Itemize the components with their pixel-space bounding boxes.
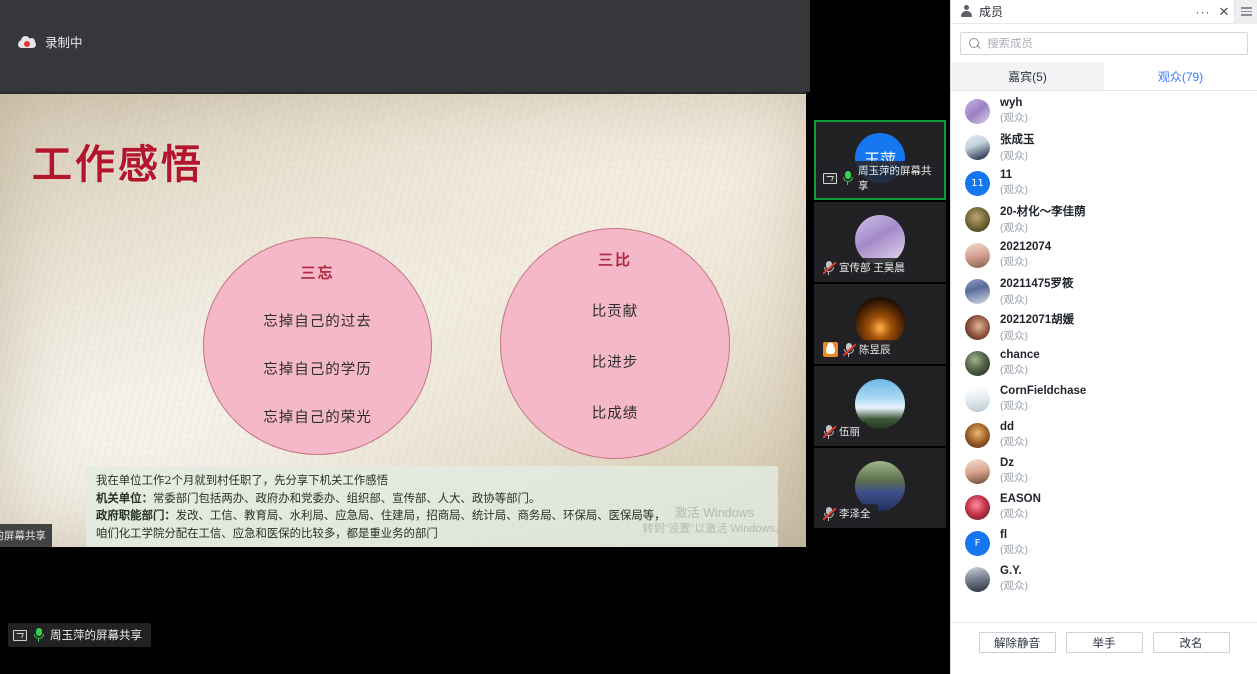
participant-role: (观众)	[1000, 578, 1028, 593]
mic-muted-icon	[823, 425, 834, 439]
participant-role: (观众)	[1000, 220, 1086, 235]
avatar-initials: 11	[965, 171, 990, 196]
slide-title: 工作感悟	[32, 132, 204, 190]
button-label: 举手	[1093, 635, 1116, 651]
rename-button[interactable]: 改名	[1153, 632, 1230, 653]
raise-hand-button[interactable]: 举手	[1066, 632, 1143, 653]
stage-share-tag: 周玉萍的屏幕共享	[8, 623, 151, 647]
participant-info: 11 (观众)	[1000, 169, 1028, 197]
participant-info: 20212071胡媛 (观众)	[1000, 311, 1074, 343]
slide-corner-share-tag: 玉萍的屏幕共享	[0, 524, 52, 547]
search-box[interactable]	[960, 32, 1248, 55]
participant-info: EASON (观众)	[1000, 493, 1041, 521]
participant-role: (观众)	[1000, 506, 1041, 521]
participant-role: (观众)	[1000, 148, 1035, 163]
participant-info: G.Y. (观众)	[1000, 565, 1028, 593]
participant-name: 20212074	[1000, 241, 1051, 253]
screen-share-icon	[13, 630, 27, 641]
panel-footer-actions: 解除静音举手改名	[951, 622, 1257, 674]
participant-name: CornFieldchase	[1000, 385, 1086, 397]
thumbnail-name-tag: 周玉萍的屏幕共享	[819, 161, 941, 195]
participant-name: 张成玉	[1000, 131, 1035, 147]
avatar: 11	[965, 171, 990, 196]
video-thumbnail[interactable]: 宣传部 王昊晨	[814, 202, 946, 282]
thumbnail-name: 伍丽	[839, 424, 860, 439]
participant-name: 20-材化～李佳荫	[1000, 203, 1086, 219]
participant-row[interactable]: 张成玉 (观众)	[951, 129, 1257, 165]
avatar	[965, 351, 990, 376]
venn-left-line-1: 忘掉自己的过去	[204, 310, 431, 331]
participant-role: (观众)	[1000, 542, 1028, 557]
avatar	[965, 495, 990, 520]
thumbnail-name-tag: 李泽全	[819, 504, 878, 523]
recording-indicator: 录制中	[18, 32, 83, 51]
avatar	[965, 279, 990, 304]
avatar	[965, 567, 990, 592]
avatar	[965, 459, 990, 484]
search-row	[951, 24, 1257, 62]
panel-title: 成员	[979, 3, 1003, 20]
screen-share-icon	[823, 173, 837, 184]
avatar: F	[965, 531, 990, 556]
video-thumbnail[interactable]: 李泽全	[814, 448, 946, 528]
participant-name: 20211475罗筱	[1000, 275, 1074, 291]
venn-right-line-2: 比进步	[501, 351, 729, 372]
video-thumbnail[interactable]: 陈昱辰	[814, 284, 946, 364]
presentation-slide: 工作感悟 三忘 忘掉自己的过去 忘掉自己的学历 忘掉自己的荣光 三比 比贡献 比…	[0, 92, 806, 547]
search-icon	[969, 38, 980, 49]
mic-on-icon	[33, 628, 44, 642]
participant-row[interactable]: F fl (观众)	[951, 525, 1257, 561]
participant-row[interactable]: chance (观众)	[951, 345, 1257, 381]
venn-left-line-2: 忘掉自己的学历	[204, 358, 431, 379]
participant-row[interactable]: Dz (观众)	[951, 453, 1257, 489]
participant-row[interactable]: CornFieldchase (观众)	[951, 381, 1257, 417]
participant-row[interactable]: 20-材化～李佳荫 (观众)	[951, 201, 1257, 237]
participant-info: Dz (观众)	[1000, 457, 1028, 485]
avatar	[965, 243, 990, 268]
participant-role: (观众)	[1000, 110, 1028, 125]
participant-role: (观众)	[1000, 254, 1051, 269]
slide-text-line-1: 我在单位工作2个月就到村任职了，先分享下机关工作感悟	[96, 472, 768, 490]
hamburger-menu-icon[interactable]	[1234, 0, 1257, 24]
participant-name: 11	[1000, 169, 1028, 181]
participant-row[interactable]: 20212071胡媛 (观众)	[951, 309, 1257, 345]
participant-info: chance (观众)	[1000, 349, 1040, 377]
host-badge-icon	[823, 342, 838, 357]
thumbnail-name: 周玉萍的屏幕共享	[858, 163, 934, 193]
participant-role: (观众)	[1000, 182, 1028, 197]
slide-text-line-4: 咱们化工学院分配在工信、应急和医保的比较多，都是重业务的部门	[96, 525, 768, 543]
user-head-icon	[960, 5, 973, 18]
close-icon[interactable]: ✕	[1214, 0, 1234, 24]
button-label: 解除静音	[994, 635, 1040, 651]
stage-share-tag-label: 周玉萍的屏幕共享	[50, 627, 142, 643]
avatar	[965, 99, 990, 124]
participant-info: 20212074 (观众)	[1000, 241, 1051, 269]
venn-left-line-3: 忘掉自己的荣光	[204, 406, 431, 427]
tab-audience[interactable]: 观众(79)	[1104, 62, 1257, 90]
more-options-button[interactable]: ···	[1192, 0, 1214, 24]
participant-row[interactable]: dd (观众)	[951, 417, 1257, 453]
avatar	[965, 423, 990, 448]
thumbnail-name: 宣传部 王昊晨	[839, 260, 905, 275]
venn-left-heading: 三忘	[204, 262, 431, 283]
participant-name: G.Y.	[1000, 565, 1028, 577]
avatar-initials: F	[965, 531, 990, 556]
participant-name: dd	[1000, 421, 1028, 433]
panel-titlebar: 成员 ··· ✕	[951, 0, 1257, 24]
venn-circle-left: 三忘 忘掉自己的过去 忘掉自己的学历 忘掉自己的荣光	[203, 237, 432, 455]
participant-info: 20-材化～李佳荫 (观众)	[1000, 203, 1086, 235]
slide-body-textbox: 我在单位工作2个月就到村任职了，先分享下机关工作感悟 机关单位：常委部门包括两办…	[86, 466, 778, 547]
participant-role: (观众)	[1000, 362, 1040, 377]
slide-text-line-3: 政府职能部门：发改、工信、教育局、水利局、应急局、住建局，招商局、统计局、商务局…	[96, 507, 768, 525]
panel-title-group: 成员	[951, 3, 1192, 20]
shared-screen-stage[interactable]: 录制中 工作感悟 三忘 忘掉自己的过去 忘掉自己的学历 忘掉自己的荣光 三比 比…	[0, 0, 950, 674]
participant-row[interactable]: 20211475罗筱 (观众)	[951, 273, 1257, 309]
thumbnail-name-tag: 宣传部 王昊晨	[819, 258, 912, 277]
mic-muted-icon	[823, 261, 834, 275]
participant-role: (观众)	[1000, 470, 1028, 485]
participant-name: wyh	[1000, 97, 1028, 109]
participants-panel: 成员 ··· ✕ 嘉宾(5)观众(79) wyh (观众) 张成玉 (观众) 1…	[950, 0, 1257, 674]
slide-text-line-2: 机关单位：常委部门包括两办、政府办和党委办、组织部、宣传部、人大、政协等部门。	[96, 490, 768, 508]
venn-right-line-1: 比贡献	[501, 300, 729, 321]
participant-role: (观众)	[1000, 292, 1074, 307]
participant-row[interactable]: G.Y. (观众)	[951, 561, 1257, 597]
participant-row[interactable]: 20212074 (观众)	[951, 237, 1257, 273]
venn-right-heading: 三比	[501, 249, 729, 270]
panel-tabs: 嘉宾(5)观众(79)	[951, 62, 1257, 91]
recording-label: 录制中	[45, 32, 83, 51]
thumbnail-name-tag: 伍丽	[819, 422, 867, 441]
thumbnail-name: 陈昱辰	[859, 342, 891, 357]
button-label: 改名	[1180, 635, 1203, 651]
stage-top-bar	[0, 0, 810, 92]
video-thumbnail[interactable]: 玉萍 周玉萍的屏幕共享	[814, 120, 946, 200]
avatar	[965, 387, 990, 412]
participant-row[interactable]: 11 11 (观众)	[951, 165, 1257, 201]
mic-muted-icon	[823, 507, 834, 521]
mic-on-icon	[842, 171, 853, 185]
participant-info: 张成玉 (观众)	[1000, 131, 1035, 163]
thumbnail-name-tag: 陈昱辰	[819, 340, 898, 359]
avatar	[965, 135, 990, 160]
participant-info: fl (观众)	[1000, 529, 1028, 557]
participant-role: (观众)	[1000, 398, 1086, 413]
participant-role: (观众)	[1000, 328, 1074, 343]
tab-label: 嘉宾(5)	[1008, 68, 1047, 85]
participant-info: dd (观众)	[1000, 421, 1028, 449]
participant-name: EASON	[1000, 493, 1041, 505]
participants-list[interactable]: wyh (观众) 张成玉 (观众) 11 11 (观众) 20-材化～李佳荫 (…	[951, 91, 1257, 622]
video-thumbnail-strip: 玉萍 周玉萍的屏幕共享 宣传部 王昊晨 陈昱辰	[814, 120, 946, 530]
mic-muted-icon	[843, 343, 854, 357]
participant-name: chance	[1000, 349, 1040, 361]
search-input[interactable]	[987, 38, 1239, 50]
avatar	[965, 207, 990, 232]
participant-info: wyh (观众)	[1000, 97, 1028, 125]
participant-name: 20212071胡媛	[1000, 311, 1074, 327]
participant-info: CornFieldchase (观众)	[1000, 385, 1086, 413]
thumbnail-name: 李泽全	[839, 506, 871, 521]
tab-label: 观众(79)	[1158, 68, 1203, 85]
participant-name: fl	[1000, 529, 1028, 541]
venn-circle-right: 三比 比贡献 比进步 比成绩	[500, 228, 730, 459]
participant-name: Dz	[1000, 457, 1028, 469]
participant-row[interactable]: wyh (观众)	[951, 93, 1257, 129]
avatar	[965, 315, 990, 340]
unmute-button[interactable]: 解除静音	[979, 632, 1056, 653]
cloud-record-icon	[18, 36, 36, 48]
participant-row[interactable]: EASON (观众)	[951, 489, 1257, 525]
participant-info: 20211475罗筱 (观众)	[1000, 275, 1074, 307]
meeting-window: 录制中 工作感悟 三忘 忘掉自己的过去 忘掉自己的学历 忘掉自己的荣光 三比 比…	[0, 0, 1257, 674]
tab-guests[interactable]: 嘉宾(5)	[951, 62, 1104, 90]
venn-right-line-3: 比成绩	[501, 402, 729, 423]
video-thumbnail[interactable]: 伍丽	[814, 366, 946, 446]
participant-role: (观众)	[1000, 434, 1028, 449]
